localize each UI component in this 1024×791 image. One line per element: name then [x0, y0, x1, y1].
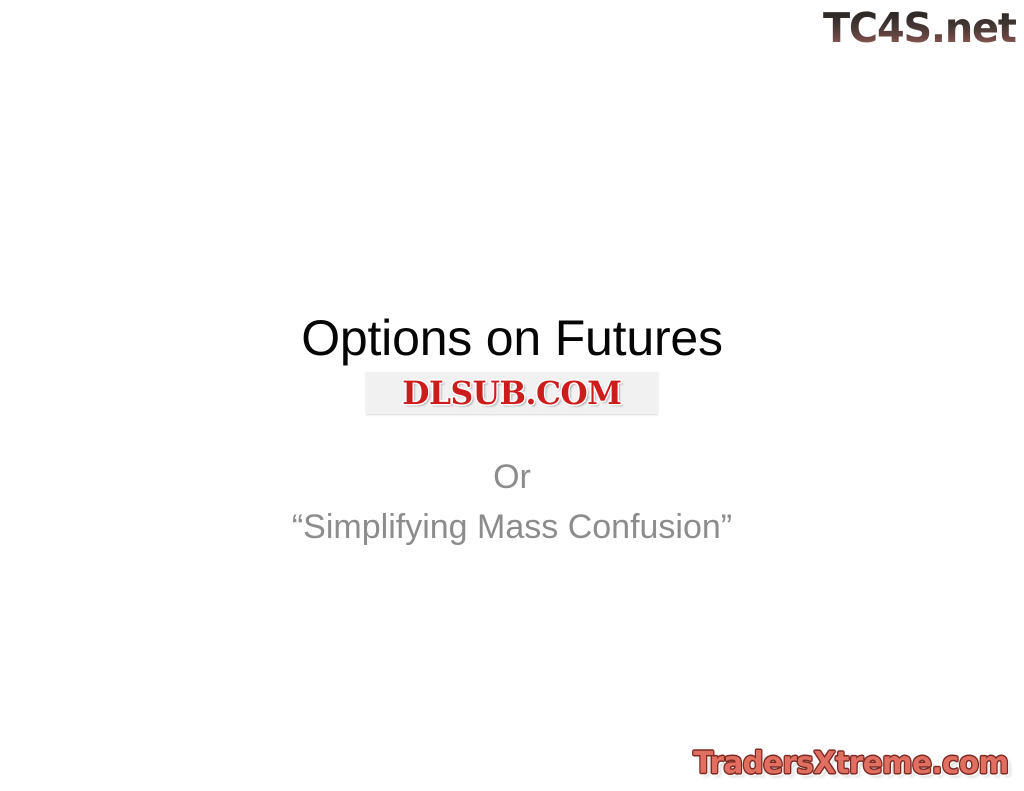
- presentation-slide: TC4S.net Options on Futures DLSUB.COM Or…: [0, 0, 1024, 791]
- dlsub-watermark: DLSUB.COM: [366, 372, 658, 414]
- subtitle-line-quote: “Simplifying Mass Confusion”: [0, 502, 1024, 552]
- dlsub-watermark-text: DLSUB.COM: [402, 376, 621, 410]
- page-title: Options on Futures: [0, 309, 1024, 367]
- slide-content: Options on Futures DLSUB.COM Or “Simplif…: [0, 0, 1024, 791]
- slide-subtitle: Or “Simplifying Mass Confusion”: [0, 452, 1024, 552]
- subtitle-line-or: Or: [0, 452, 1024, 502]
- tradersxtreme-watermark: TradersXtreme.com: [690, 743, 1012, 785]
- tradersxtreme-watermark-text: TradersXtreme.com: [693, 747, 1008, 781]
